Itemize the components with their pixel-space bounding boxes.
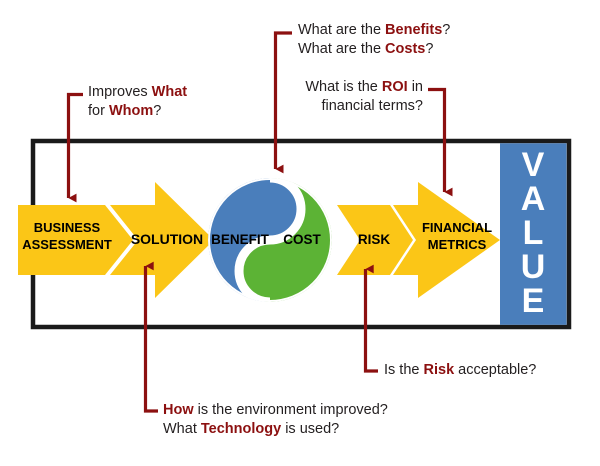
callout-roi-financial-terms: What is the ROI in financial terms? xyxy=(303,78,423,116)
callout-risk-acceptable: Is the Risk acceptable? xyxy=(384,361,536,380)
callout-line: financial terms? xyxy=(303,97,423,116)
diagram-graphics xyxy=(0,0,600,466)
callout-how-environment-technology: How is the environment improved? What Te… xyxy=(163,401,388,439)
callout-line: What are the Benefits? xyxy=(298,21,450,40)
callout-line: Is the Risk acceptable? xyxy=(384,361,536,380)
benefit-cost-circle xyxy=(208,178,332,302)
diagram-canvas: BUSINESS ASSESSMENT SOLUTION BENEFIT COS… xyxy=(0,0,600,466)
callout-benefits-costs: What are the Benefits? What are the Cost… xyxy=(298,21,450,59)
callout-line: What are the Costs? xyxy=(298,40,450,59)
callout-line: How is the environment improved? xyxy=(163,401,388,420)
callout-line: What Technology is used? xyxy=(163,420,388,439)
value-bar xyxy=(500,143,567,324)
callout-improves-what-for-whom: Improves What for Whom? xyxy=(88,83,187,121)
callout-line: for Whom? xyxy=(88,102,187,121)
callout-line: What is the ROI in xyxy=(303,78,423,97)
callout-line: Improves What xyxy=(88,83,187,102)
